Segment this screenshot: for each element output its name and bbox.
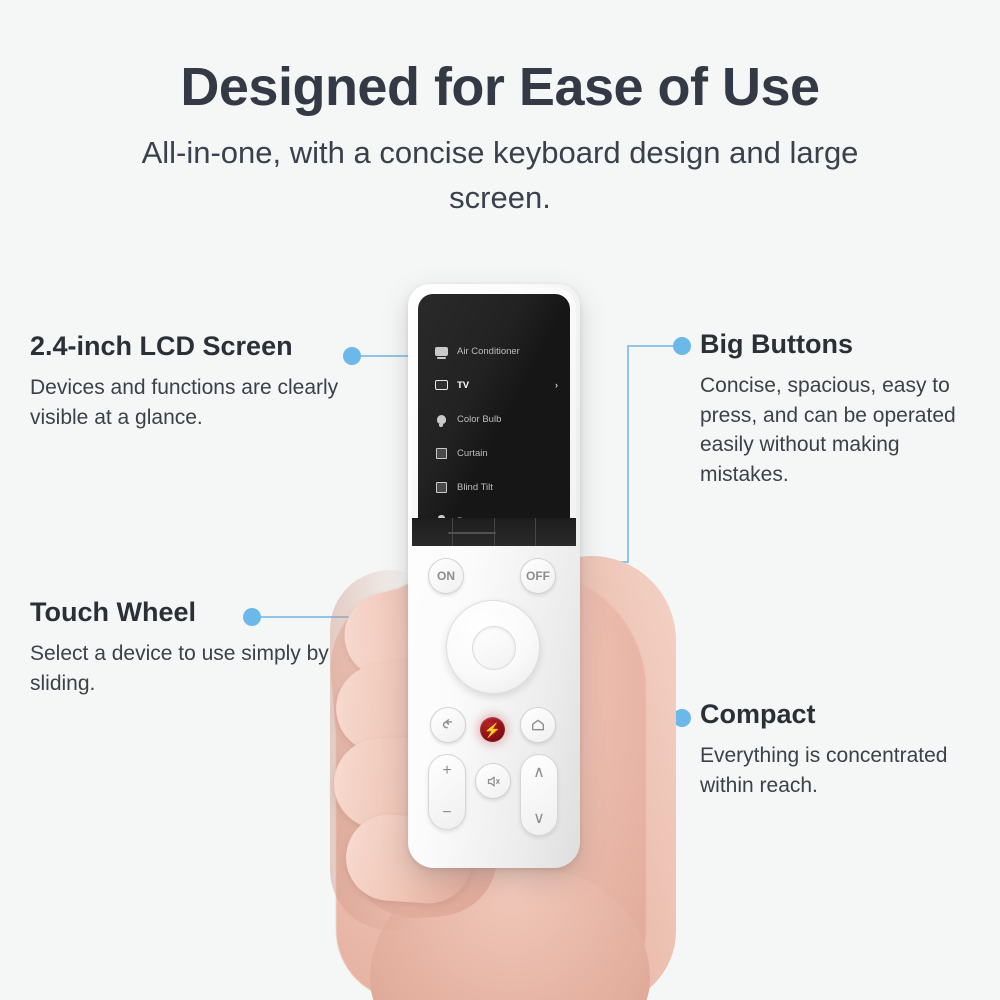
mute-speaker-icon [485, 774, 502, 789]
callout-title-touch-wheel: Touch Wheel [30, 598, 350, 628]
tv-icon [434, 379, 448, 392]
air-conditioner-icon [434, 345, 448, 358]
device-label: Color Bulb [457, 414, 501, 425]
callout-touch-wheel: Touch Wheel Select a device to use simpl… [30, 598, 350, 698]
device-list: Air Conditioner TV › Color Bulb Curtain [418, 334, 570, 530]
home-button[interactable] [520, 707, 556, 743]
band-segment [536, 518, 576, 546]
device-list-item-tv[interactable]: TV › [418, 368, 570, 402]
callout-body-compact: Everything is concentrated within reach. [700, 741, 970, 801]
device-list-item-color-bulb[interactable]: Color Bulb [418, 402, 570, 436]
on-button[interactable]: ON [428, 558, 464, 594]
page-title: Designed for Ease of Use [0, 56, 1000, 118]
lcd-screen[interactable]: Air Conditioner TV › Color Bulb Curtain [418, 294, 570, 530]
touch-wheel-center-button[interactable] [472, 626, 516, 670]
callout-title-compact: Compact [700, 700, 970, 730]
callout-lcd-screen: 2.4-inch LCD Screen Devices and function… [30, 332, 360, 432]
callout-body-big-buttons: Concise, spacious, easy to press, and ca… [700, 371, 990, 490]
callout-big-buttons: Big Buttons Concise, spacious, easy to p… [700, 330, 990, 490]
channel-down-button[interactable]: ∨ [533, 808, 545, 828]
callout-body-lcd-screen: Devices and functions are clearly visibl… [30, 373, 360, 433]
device-label: Curtain [457, 448, 488, 459]
curtain-icon [434, 447, 448, 460]
volume-up-button[interactable]: + [442, 762, 451, 780]
channel-up-button[interactable]: ∧ [533, 762, 545, 782]
volume-rocker[interactable]: + − [428, 754, 466, 830]
infographic-canvas: Designed for Ease of Use All-in-one, wit… [0, 0, 1000, 1000]
callout-title-big-buttons: Big Buttons [700, 330, 990, 360]
callout-body-touch-wheel: Select a device to use simply by sliding… [30, 639, 350, 699]
mute-button[interactable] [475, 763, 511, 799]
device-label: Air Conditioner [457, 346, 520, 357]
callout-compact: Compact Everything is concentrated withi… [700, 700, 970, 800]
device-list-item-blind-tilt[interactable]: Blind Tilt [418, 470, 570, 504]
band-divider [448, 532, 496, 534]
page-subtitle: All-in-one, with a concise keyboard desi… [110, 131, 890, 221]
device-list-item-curtain[interactable]: Curtain [418, 436, 570, 470]
off-button[interactable]: OFF [520, 558, 556, 594]
product-photo-remote-in-hand: Air Conditioner TV › Color Bulb Curtain [330, 270, 680, 1000]
back-button[interactable] [430, 707, 466, 743]
volume-down-button[interactable]: − [442, 804, 451, 822]
band-segment [495, 518, 536, 546]
device-label: TV [457, 380, 469, 391]
chevron-right-icon: › [555, 380, 558, 390]
channel-rocker[interactable]: ∧ ∨ [520, 754, 558, 836]
device-label: Blind Tilt [457, 482, 493, 493]
device-list-item-air-conditioner[interactable]: Air Conditioner [418, 334, 570, 368]
touch-wheel[interactable] [446, 600, 540, 694]
power-button[interactable]: ⚡ [480, 717, 505, 742]
blind-tilt-icon [434, 481, 448, 494]
back-arrow-icon [440, 717, 457, 734]
lightning-bolt-icon: ⚡ [484, 723, 501, 737]
color-bulb-icon [434, 413, 448, 426]
home-icon [530, 717, 546, 733]
callout-title-lcd-screen: 2.4-inch LCD Screen [30, 332, 360, 362]
